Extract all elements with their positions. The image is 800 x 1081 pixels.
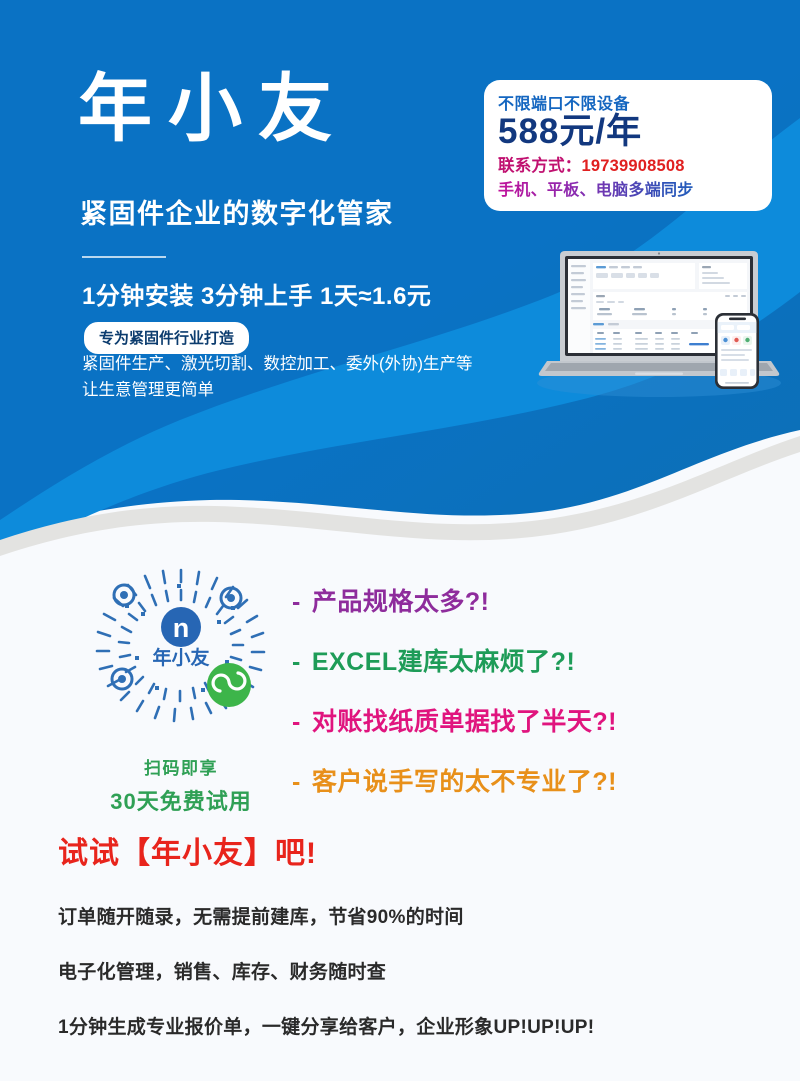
brand-subtitle: 紧固件企业的数字化管家	[80, 192, 394, 231]
pain-point-3: - 对账找纸质单据找了半天?!	[292, 702, 792, 738]
svg-text:n: n	[173, 613, 190, 643]
contact-row: 联系方式：19739908508	[498, 152, 772, 176]
features-line: 1分钟安装 3分钟上手 1天≈1.6元	[82, 276, 431, 311]
cta-line-3: 1分钟生成专业报价单，一键分享给客户，企业形象UP!UP!UP!	[58, 1012, 778, 1039]
pain-text-1: 产品规格太多?!	[312, 582, 490, 618]
pain-dash-1: -	[292, 588, 301, 617]
title-divider	[82, 256, 166, 258]
qr-caption-1: 扫码即享	[76, 754, 286, 779]
contact-phone: 19739908508	[582, 157, 685, 175]
pain-point-1: - 产品规格太多?!	[292, 582, 792, 618]
cta-line-2: 电子化管理，销售、库存、财务随时查	[58, 957, 778, 984]
pain-dash-4: -	[292, 768, 301, 797]
poster-root: 年小友 紧固件企业的数字化管家 1分钟安装 3分钟上手 1天≈1.6元 专为紧固…	[0, 0, 800, 1081]
brand-title: 年小友	[78, 72, 348, 146]
cta-line-1: 订单随开随录，无需提前建库，节省90%的时间	[58, 902, 778, 929]
pain-text-3: 对账找纸质单据找了半天?!	[312, 702, 617, 738]
price-amount: 588元/年	[498, 113, 772, 151]
cta-section: 试试【年小友】吧! 订单随开随录，无需提前建库，节省90%的时间 电子化管理，销…	[58, 828, 778, 1039]
pain-text-2: EXCEL建库太麻烦了?!	[312, 642, 575, 678]
industry-badge: 专为紧固件行业打造	[84, 322, 249, 354]
price-card-tagline: 不限端口不限设备	[498, 90, 772, 114]
qr-caption-2: 30天免费试用	[76, 784, 286, 816]
scope-line-2: 让生意管理更简单	[82, 378, 473, 404]
contact-label: 联系方式：	[498, 157, 582, 175]
price-card: 不限端口不限设备 588元/年 联系方式：19739908508 手机、平板、电…	[484, 80, 772, 211]
scope-line-1: 紧固件生产、激光切割、数控加工、委外(外协)生产等	[82, 352, 473, 378]
pain-text-4: 客户说手写的太不专业了?!	[312, 762, 617, 798]
device-mockup	[529, 243, 789, 398]
hero-section: 年小友 紧固件企业的数字化管家 1分钟安装 3分钟上手 1天≈1.6元 专为紧固…	[0, 0, 800, 470]
multi-device-note: 手机、平板、电脑多端同步	[498, 176, 772, 200]
pain-dash-3: -	[292, 708, 301, 737]
qr-logo-text: 年小友	[152, 646, 209, 669]
pain-point-2: - EXCEL建库太麻烦了?!	[292, 642, 792, 678]
qr-block[interactable]: n 年小友 扫码即享 30天免费试用	[76, 560, 286, 816]
scope-text: 紧固件生产、激光切割、数控加工、委外(外协)生产等 让生意管理更简单	[82, 352, 473, 403]
qr-code-icon[interactable]: n 年小友	[81, 560, 281, 750]
pain-point-4: - 客户说手写的太不专业了?!	[292, 762, 792, 798]
pain-point-list: - 产品规格太多?! - EXCEL建库太麻烦了?! - 对账找纸质单据找了半天…	[292, 582, 792, 822]
pain-dash-2: -	[292, 648, 301, 677]
cta-heading: 试试【年小友】吧!	[58, 828, 778, 872]
